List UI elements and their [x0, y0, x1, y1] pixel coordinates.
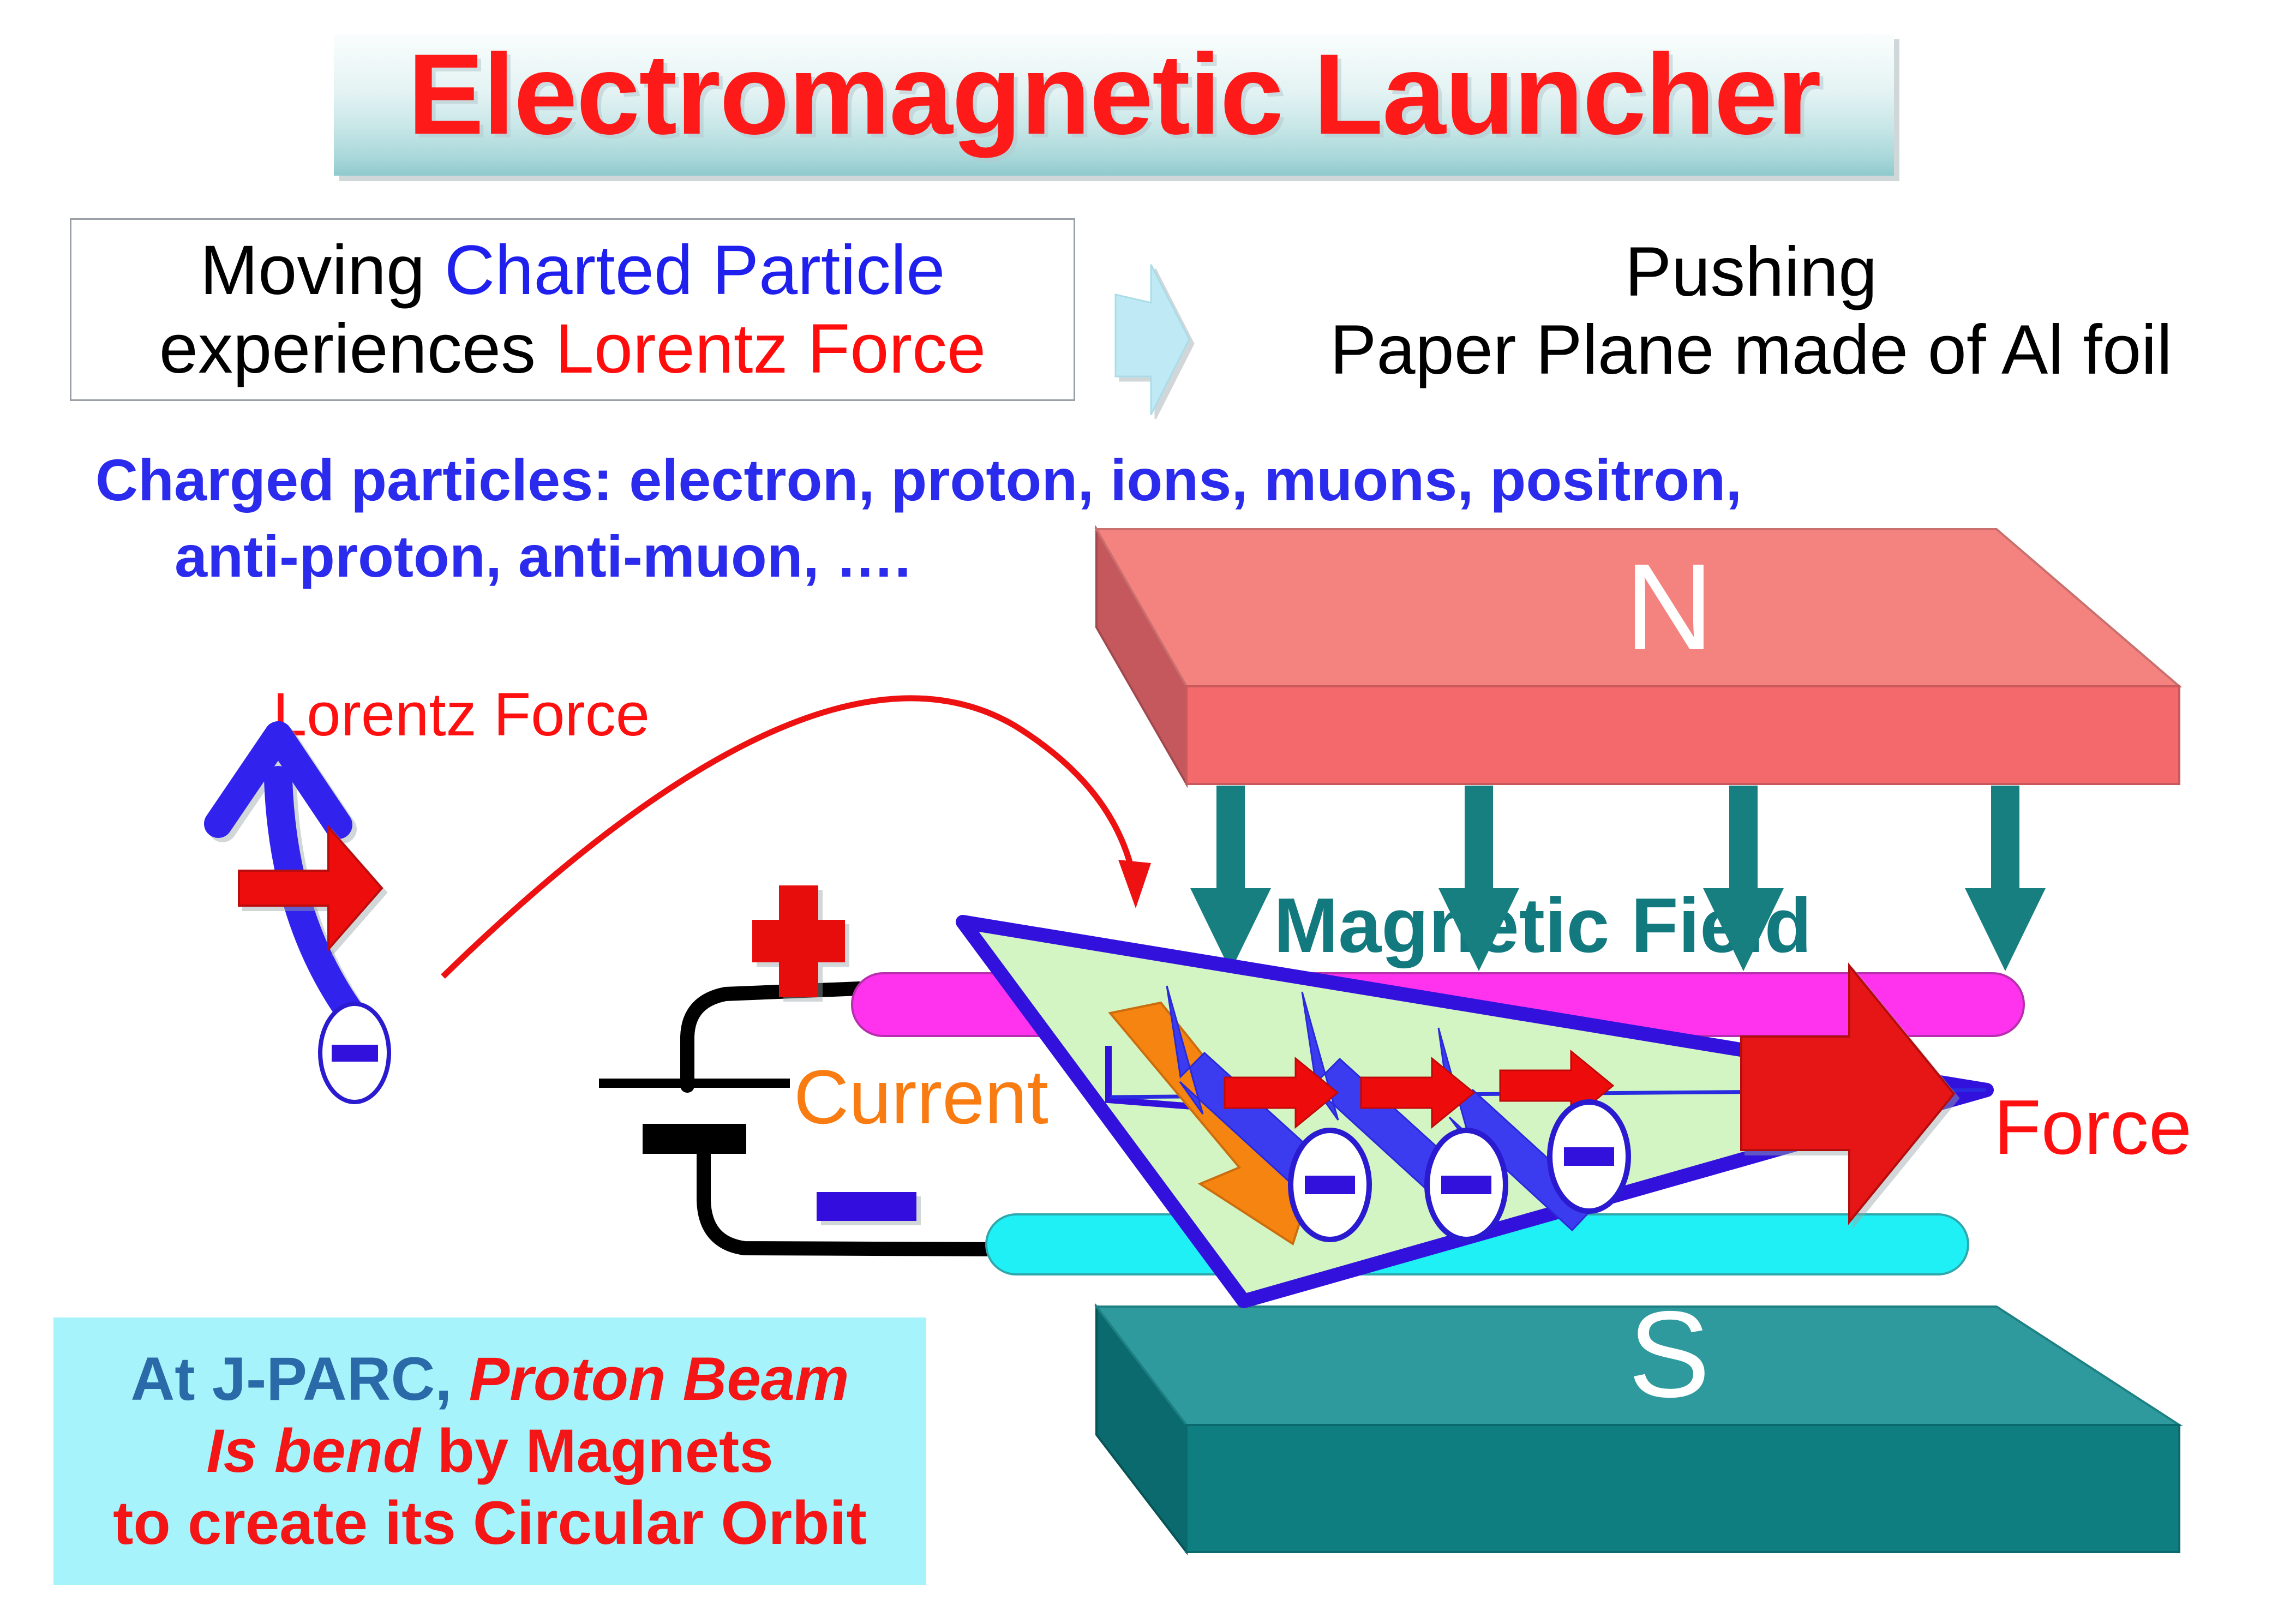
- pushing-arrow-icon: [1116, 265, 1189, 415]
- field-arrow-icon: [1438, 786, 1519, 971]
- battery-symbol: [599, 1079, 790, 1154]
- electron-icon: [1427, 1130, 1506, 1239]
- field-arrow-icon: [1190, 786, 1271, 971]
- electron-icon: [1550, 1102, 1628, 1211]
- field-arrow-icon: [1703, 786, 1784, 971]
- diagram-svg: N S: [0, 0, 2296, 1623]
- battery-negative-plate: [643, 1124, 746, 1154]
- slide-canvas: Electromagnetic Launcher Moving Charted …: [0, 0, 2296, 1623]
- magnet-south: S: [1096, 1285, 2179, 1552]
- magnet-south-label: S: [1628, 1285, 1710, 1423]
- magnet-north: N: [1096, 529, 2179, 784]
- electron-icon: [320, 1004, 389, 1102]
- minus-sign-icon: [817, 1192, 916, 1221]
- magnetic-field-arrows: [1190, 786, 2046, 971]
- field-arrow-icon: [1965, 786, 2046, 971]
- battery-positive-plate: [599, 1079, 790, 1088]
- magnet-north-label: N: [1625, 538, 1714, 675]
- plus-sign-icon: [752, 885, 845, 997]
- electron-icon: [1291, 1130, 1369, 1239]
- wire-positive: [687, 989, 859, 1086]
